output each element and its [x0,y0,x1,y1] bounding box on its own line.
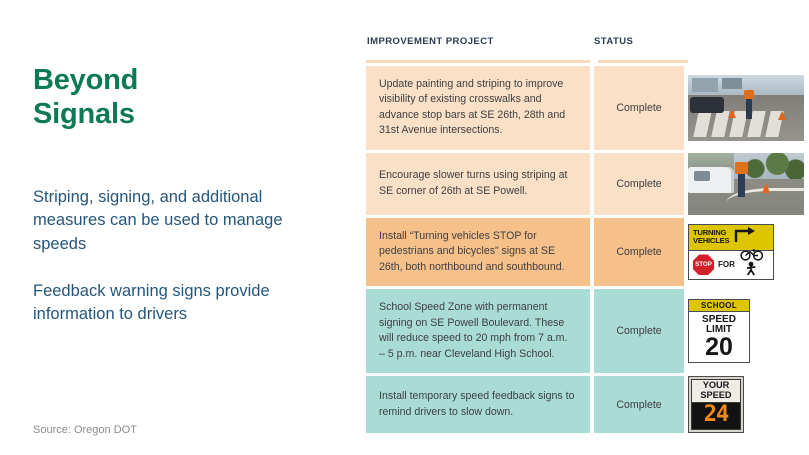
cell-media: TURNING VEHICLES STOP FOR [688,218,804,286]
status-badge: Complete [594,218,684,286]
photo-road-worker [746,97,752,119]
table-row: Install “Turning vehicles STOP for pedes… [366,218,809,286]
column-header-improvement-project: IMPROVEMENT PROJECT [367,36,494,47]
header-underline-project [366,60,590,63]
sign-your-speed-feedback: YOUR SPEED 24 [688,376,744,434]
table-header-row: IMPROVEMENT PROJECT STATUS [366,36,809,56]
table-row: Encourage slower turns using striping at… [366,153,809,215]
status-badge: Complete [594,153,684,215]
cell-project-description: Encourage slower turns using striping at… [366,153,590,215]
slide-left-panel: Beyond Signals Striping, signing, and ad… [0,0,360,455]
sign-turning-vehicles: TURNING VEHICLES STOP FOR [688,224,774,280]
body-paragraph-1: Striping, signing, and additional measur… [33,186,333,256]
speed-limit-value: 20 [689,335,749,360]
sign-turning-bottom-panel: STOP FOR [689,251,773,279]
status-badge: Complete [594,376,684,434]
speed-label: SPEED [692,391,740,401]
column-header-status: STATUS [594,36,633,47]
cell-media [688,153,804,215]
cell-project-description: Install “Turning vehicles STOP for pedes… [366,218,590,286]
photo-traffic-cone [762,183,770,193]
speed-limit-panel: SPEED LIMIT 20 [688,312,750,363]
cell-media: YOUR SPEED 24 [688,376,804,434]
table-row: School Speed Zone with permanent signing… [366,289,809,373]
right-turn-arrow-icon [734,226,758,248]
photo-building [692,78,718,92]
stop-sign-icon: STOP [693,254,714,275]
sign-school-speed-limit: SCHOOL SPEED LIMIT 20 [688,299,750,363]
page-title-line-2: Signals [33,97,333,131]
cell-media [688,66,804,150]
cell-media: SCHOOL SPEED LIMIT 20 [688,289,804,373]
page-title: Beyond Signals [33,63,333,131]
sign-turning-line-2: VEHICLES [693,237,729,245]
sign-turning-top-panel: TURNING VEHICLES [689,225,773,251]
cell-project-description: School Speed Zone with permanent signing… [366,289,590,373]
sign-for-label: FOR [718,260,735,269]
improvement-projects-table: IMPROVEMENT PROJECT STATUS Update painti… [366,36,809,446]
speed-readout-value: 24 [691,403,741,430]
bicycle-and-pedestrian-icon [739,249,767,280]
table-body: Update painting and striping to improve … [366,66,809,433]
header-underline-status [598,60,688,63]
photo-parked-car [690,97,724,113]
photo-road-worker [738,171,745,197]
photo-traffic-cone [778,111,786,120]
cell-project-description: Install temporary speed feedback signs t… [366,376,590,434]
photo-work-truck [688,167,734,193]
source-note: Source: Oregon DOT [33,424,137,436]
header-underline-group [366,58,809,64]
school-plaque-label: SCHOOL [688,299,750,312]
table-row: Install temporary speed feedback signs t… [366,376,809,434]
page-title-line-1: Beyond [33,63,333,97]
body-paragraph-2: Feedback warning signs provide informati… [33,280,333,327]
your-speed-caption: YOUR SPEED [691,379,741,404]
status-badge: Complete [594,289,684,373]
status-badge: Complete [594,66,684,150]
photo-corner-striping [688,153,804,215]
cell-project-description: Update painting and striping to improve … [366,66,590,150]
table-row: Update painting and striping to improve … [366,66,809,150]
sign-turning-text: TURNING VEHICLES [693,229,729,245]
photo-building [722,78,742,89]
photo-traffic-cone [728,109,736,118]
photo-crosswalk-striping [688,75,804,141]
